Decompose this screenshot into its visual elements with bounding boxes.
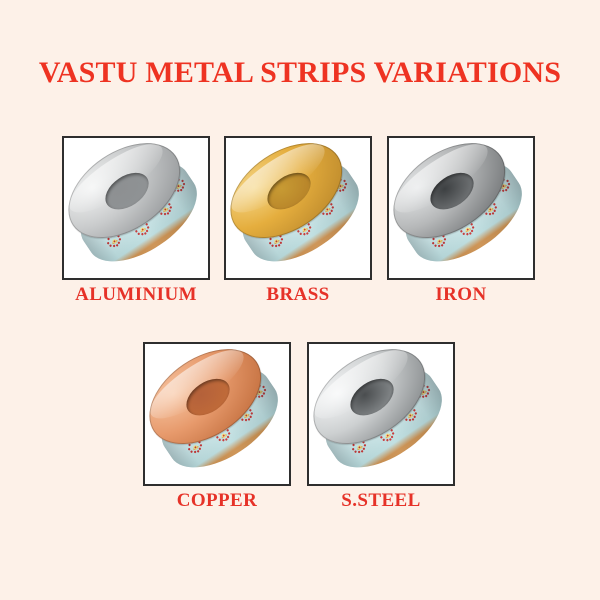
product-card-grid: Cosmos VaastuDr. Pillai & AssociatesALUM… [0,0,600,600]
product-card-iron[interactable]: Cosmos VaastuDr. Pillai & AssociatesIRON [387,136,535,310]
tape-roll-image: Cosmos VaastuDr. Pillai & Associates [224,136,372,280]
product-image-frame: Cosmos VaastuDr. Pillai & Associates [307,342,455,486]
tape-roll-image: Cosmos VaastuDr. Pillai & Associates [307,342,455,486]
roll-center-hole [180,371,237,423]
roll-center-hole [99,165,156,217]
roll-center-hole [424,165,481,217]
tape-roll-image: Cosmos VaastuDr. Pillai & Associates [387,136,535,280]
product-card-copper[interactable]: Cosmos VaastuDr. Pillai & AssociatesCOPP… [143,342,291,516]
product-card-ssteel[interactable]: Cosmos VaastuDr. Pillai & AssociatesS.ST… [307,342,455,516]
product-label-iron: IRON [365,284,557,306]
roll-center-hole [344,371,401,423]
product-image-frame: Cosmos VaastuDr. Pillai & Associates [224,136,372,280]
product-card-brass[interactable]: Cosmos VaastuDr. Pillai & AssociatesBRAS… [224,136,372,310]
product-label-ssteel: S.STEEL [285,490,477,512]
tape-roll-image: Cosmos VaastuDr. Pillai & Associates [143,342,291,486]
roll-center-hole [261,165,318,217]
product-card-aluminium[interactable]: Cosmos VaastuDr. Pillai & AssociatesALUM… [62,136,210,310]
product-image-frame: Cosmos VaastuDr. Pillai & Associates [62,136,210,280]
product-image-frame: Cosmos VaastuDr. Pillai & Associates [143,342,291,486]
tape-roll-image: Cosmos VaastuDr. Pillai & Associates [62,136,210,280]
product-image-frame: Cosmos VaastuDr. Pillai & Associates [387,136,535,280]
